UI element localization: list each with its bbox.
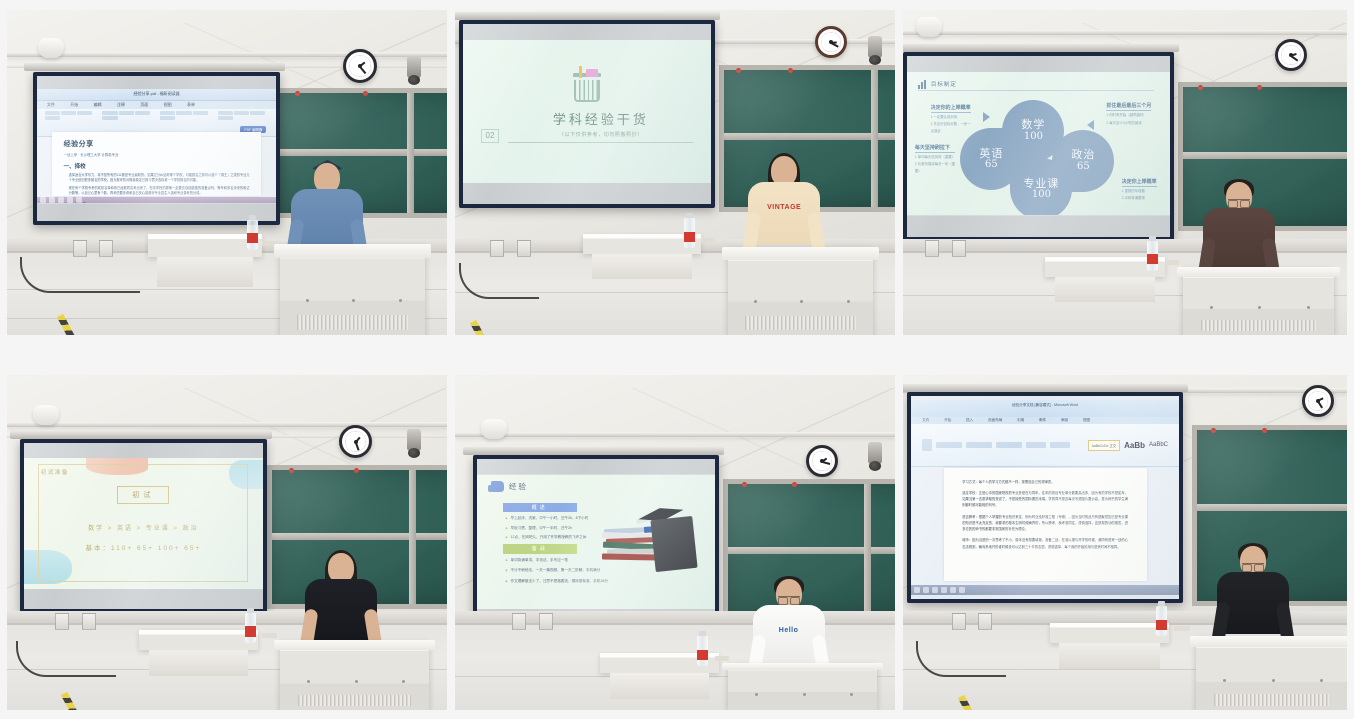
ribbon-button[interactable] bbox=[1026, 442, 1046, 448]
slide-header: 目标制定 bbox=[918, 80, 957, 89]
blackboard-clip bbox=[1198, 85, 1203, 90]
note-line: 2 冲刺背诵要快 bbox=[1122, 196, 1157, 201]
pointer-triangle-icon bbox=[1087, 120, 1094, 130]
word-tab[interactable]: 页面布局 bbox=[988, 418, 1002, 423]
wall-outlet bbox=[73, 240, 87, 257]
presenter-torso bbox=[1217, 572, 1289, 634]
screen-surface: 经验 概述 早上起床、洗漱、中午一小时、汪午3h、8下小时 早饭习惯、整理、中午… bbox=[477, 459, 715, 629]
bottle-cap bbox=[247, 608, 254, 613]
photo-6[interactable]: 经验分享文档 [兼容模式] - Microsoft Word 文件 开始 插入 … bbox=[903, 375, 1347, 710]
bullet-item: 作文理解做法少了、汪思不是路要选、顺序按标准、手机18分 bbox=[505, 579, 608, 584]
doc-subtitle: 一战上岸 · 长沙理工大学 计算机专业 bbox=[64, 152, 250, 157]
note-line: 1 何时有开始（越早越好） bbox=[1106, 113, 1151, 118]
word-ribbon[interactable]: AaBbCcDd 正文 AaBb AaBbC bbox=[911, 424, 1178, 467]
water-bottle bbox=[697, 636, 708, 666]
floor-cable bbox=[20, 257, 140, 293]
ribbon-button[interactable] bbox=[77, 111, 92, 115]
floor-cable bbox=[459, 263, 539, 299]
word-tab[interactable]: 文件 bbox=[47, 102, 55, 108]
bottle-cap bbox=[686, 213, 693, 218]
lectern-top bbox=[274, 640, 436, 651]
section-bar-overview: 概述 bbox=[503, 503, 577, 512]
wall-outlet bbox=[978, 613, 992, 630]
ribbon-button[interactable] bbox=[922, 439, 932, 451]
ribbon-button[interactable] bbox=[102, 116, 117, 120]
screen-roller bbox=[903, 44, 1179, 52]
wall-clock bbox=[343, 49, 377, 83]
slide-content: 经验分享文档 [兼容模式] - Microsoft Word 文件 开始 插入 … bbox=[911, 400, 1178, 595]
word-tab[interactable]: 视图 bbox=[1083, 418, 1090, 423]
section-cover-slide: 02 学科经验干货 （以下仅供参考，切勿照搬照抄） bbox=[463, 40, 710, 183]
blackboard-divider bbox=[728, 547, 895, 554]
bullet-item: 不计不刷他法、一天一篇视频、第一天二阶解、手机满分 bbox=[505, 568, 600, 573]
section-title-wrap: 学科经验干货 （以下仅供参考，切勿照搬照抄） bbox=[508, 109, 693, 143]
word-tab[interactable]: 插入 bbox=[966, 418, 973, 423]
goal-diagram-slide: 目标制定 数学 100 政治 65 bbox=[907, 72, 1170, 215]
ceiling-conduit bbox=[7, 422, 447, 427]
note-left: 每天坚持刷拉下 1 单词每天坚持背（重要） 2 长难句保持每天一句（重 要） bbox=[915, 144, 955, 174]
lectern-top bbox=[1190, 636, 1347, 647]
lectern-top bbox=[1177, 267, 1340, 277]
photo-2[interactable]: 02 学科经验干货 （以下仅供参考，切勿照搬照抄） bbox=[455, 10, 895, 335]
slide-header: 经验 bbox=[491, 481, 528, 492]
word-titlebar: 经验分享文档 [兼容模式] - Microsoft Word bbox=[911, 400, 1178, 418]
screen-roller bbox=[10, 431, 271, 439]
word-tab[interactable]: 编辑 bbox=[94, 102, 102, 108]
windows-taskbar[interactable] bbox=[37, 197, 275, 203]
water-bottle bbox=[245, 613, 256, 643]
word-tab[interactable]: 引用 bbox=[1017, 418, 1024, 423]
blackboard-clip bbox=[1262, 428, 1267, 433]
lectern-screw bbox=[1320, 679, 1323, 682]
presenter-torso bbox=[291, 189, 363, 251]
taskbar-icon[interactable] bbox=[76, 197, 82, 203]
wall-outlet bbox=[952, 613, 966, 630]
desk-clutter bbox=[1165, 260, 1179, 265]
taskbar-icon[interactable] bbox=[941, 587, 947, 593]
taskbar-icon[interactable] bbox=[950, 587, 956, 593]
note-line: 要） bbox=[915, 169, 955, 174]
note-top-right: 抓住最后最后三个月 1 何时有开始（越早越好） 2 每天至少3小时的阅读 bbox=[1106, 102, 1151, 125]
bottle-label bbox=[247, 233, 258, 243]
slide-corner-label: 初试准备 bbox=[41, 468, 69, 476]
projector-screen: 02 学科经验干货 （以下仅供参考，切勿照搬照抄） bbox=[459, 20, 714, 209]
taskbar-icon[interactable] bbox=[67, 197, 73, 203]
note-line: 2 每天至少3小时的阅读 bbox=[1106, 121, 1151, 126]
lectern-screw bbox=[754, 300, 757, 303]
lectern-vent bbox=[1201, 320, 1316, 331]
ribbon-button[interactable] bbox=[102, 111, 117, 115]
word-document-page: 学习方式：每个人的学习方式都不一样，按需选自己的规律表。 选定学校：正是心中的国… bbox=[944, 468, 1147, 581]
shirt-print: VINTAGE bbox=[767, 204, 801, 211]
security-camera bbox=[407, 429, 421, 451]
word-tab[interactable]: 审阅 bbox=[1061, 418, 1068, 423]
blackboard-clip bbox=[1211, 428, 1216, 433]
doc-paragraph: 现在有个学校专考的成绩名单和你已经报同志考出来了。在改学校的那第一定要去自检能做… bbox=[64, 186, 250, 196]
blackboard-clip bbox=[736, 68, 741, 73]
lectern-vent bbox=[745, 316, 855, 330]
screen-roller bbox=[903, 384, 1188, 392]
presenter-torso: VINTAGE bbox=[748, 182, 820, 244]
petal-score: 65 bbox=[985, 160, 998, 171]
slide-content: 初试准备 初试 数学 > 英语 > 专业课 > 政治 基本：110+ 65+ 1… bbox=[24, 458, 262, 589]
pointer-triangle-icon bbox=[983, 112, 990, 122]
lectern-top bbox=[722, 663, 884, 670]
blackboard-vertical-divider bbox=[864, 484, 871, 615]
word-application: 经验分享文档 [兼容模式] - Microsoft Word 文件 开始 插入 … bbox=[911, 400, 1178, 595]
bottle-cap bbox=[1149, 236, 1156, 241]
wall-outlet bbox=[952, 240, 966, 257]
wall-speaker bbox=[916, 17, 942, 37]
water-bottle bbox=[684, 218, 695, 248]
security-camera bbox=[868, 442, 882, 464]
clock-center-pin bbox=[829, 40, 833, 44]
book-icon bbox=[602, 553, 660, 560]
glasses-icon bbox=[1242, 563, 1264, 569]
taskbar-icon[interactable] bbox=[49, 197, 55, 203]
security-camera bbox=[868, 36, 882, 58]
petal-score: 100 bbox=[1024, 132, 1043, 143]
word-tab[interactable]: 表单 bbox=[187, 102, 195, 108]
word-tab[interactable]: 开始 bbox=[70, 102, 78, 108]
blackboard-divider bbox=[272, 533, 447, 540]
blackboard-vertical-divider bbox=[409, 470, 416, 604]
lectern-screw bbox=[803, 693, 806, 696]
word-title-text: 经验分享文档 [兼容模式] - Microsoft Word bbox=[1012, 403, 1078, 408]
taskbar-icon[interactable] bbox=[40, 197, 46, 203]
lectern-top bbox=[274, 244, 431, 258]
blackboard-clip bbox=[742, 482, 747, 487]
word-tab[interactable]: 页面 bbox=[140, 102, 148, 108]
wall-speaker bbox=[38, 38, 64, 58]
blackboard-clip bbox=[1257, 85, 1262, 90]
ribbon-button[interactable] bbox=[160, 116, 175, 120]
lectern-screw bbox=[306, 299, 309, 302]
lectern-vent bbox=[1214, 694, 1329, 706]
note-bottom-right: 决定你上岸概率 1 重视历年真题 2 冲刺背诵要快 bbox=[1122, 178, 1157, 201]
word-tab[interactable]: 邮件 bbox=[1039, 418, 1046, 423]
lectern bbox=[1183, 267, 1334, 335]
floor-cable bbox=[916, 641, 1006, 677]
section-number: 02 bbox=[481, 129, 500, 143]
bottle-cap bbox=[1158, 601, 1165, 606]
wall-skirting bbox=[7, 611, 447, 623]
ribbon-button[interactable] bbox=[61, 111, 76, 115]
pointer-triangle-icon bbox=[1015, 190, 1025, 197]
projector-screen: 目标制定 数学 100 政治 65 bbox=[903, 52, 1174, 241]
presenter: Hello bbox=[759, 579, 819, 639]
word-tab-strip[interactable]: 文件 开始 编辑 注释 页面 视图 表单 bbox=[37, 101, 275, 109]
note-title: 抓住最后最后三个月 bbox=[1106, 102, 1151, 111]
ribbon-button[interactable] bbox=[936, 442, 962, 448]
wall-outlet bbox=[99, 240, 113, 257]
ribbon-button[interactable] bbox=[218, 111, 233, 115]
lectern-screw bbox=[1210, 306, 1213, 309]
bullet-item: 12点、在网吧儿、只用了开学教授教的飞环之休 bbox=[505, 535, 586, 540]
wall-outlet bbox=[55, 613, 69, 630]
word-title-text: 经验分享.pdf - 福昕阅读器 bbox=[133, 91, 179, 97]
lectern-screw bbox=[847, 300, 850, 303]
notepad-icon bbox=[586, 69, 598, 77]
word-application: 经验分享.pdf - 福昕阅读器 文件 开始 编辑 注释 页面 视图 表单 bbox=[37, 89, 275, 203]
water-bottle bbox=[1147, 241, 1158, 271]
doc-paragraph: 城市：因为当是的一次思考了不小，原本没有想要填报，准备二战，在准以报与开学的时候… bbox=[962, 537, 1128, 550]
word-titlebar: 经验分享.pdf - 福昕阅读器 bbox=[37, 89, 275, 102]
petal-subject: 政治 bbox=[1071, 149, 1095, 161]
photo-4[interactable]: 初试准备 初试 数学 > 英语 > 专业课 > 政治 基本：110+ 65+ 1… bbox=[7, 375, 447, 710]
photo-row-top: 经验分享.pdf - 福昕阅读器 文件 开始 编辑 注释 页面 视图 表单 bbox=[0, 10, 1354, 335]
presenter bbox=[1209, 182, 1269, 242]
glasses-icon bbox=[1228, 199, 1250, 205]
subject-chain: 数学 > 英语 > 专业课 > 政治 bbox=[88, 523, 199, 532]
blackboard-vertical-divider bbox=[407, 93, 414, 213]
projector-screen: 经验 概述 早上起床、洗漱、中午一小时、汪午3h、8下小时 早饭习惯、整理、中午… bbox=[473, 455, 719, 633]
slide-box-label: 初试 bbox=[117, 486, 169, 504]
lectern-screw bbox=[1272, 679, 1275, 682]
petal-subject: 数学 bbox=[1021, 119, 1045, 131]
desk-clutter bbox=[701, 238, 715, 243]
taskbar-icon[interactable] bbox=[914, 587, 920, 593]
lectern-screw bbox=[1223, 679, 1226, 682]
side-table bbox=[148, 234, 262, 257]
doc-paragraph: 是否跨考：根据个人掌握的专业知识来定，例为时业没好准工程（专硕），因为当时的此只… bbox=[962, 514, 1128, 533]
ceiling-conduit bbox=[7, 52, 447, 57]
blackboard-clip bbox=[788, 68, 793, 73]
blackboard-clip bbox=[289, 468, 294, 473]
doc-heading-1: 一、择校 bbox=[64, 162, 250, 170]
desk-clutter bbox=[1174, 626, 1190, 631]
style-normal[interactable]: AaBbCcDd 正文 bbox=[1088, 440, 1121, 451]
presenter bbox=[297, 163, 357, 223]
blackboard-divider bbox=[724, 133, 895, 140]
experience-slide: 经验 概述 早上起床、洗漱、中午一小时、汪午3h、8下小时 早饭习惯、整理、中午… bbox=[477, 475, 715, 609]
ribbon-button[interactable] bbox=[996, 442, 1022, 448]
slide-header-title: 经验 bbox=[509, 481, 528, 492]
slide-content: 经验分享.pdf - 福昕阅读器 文件 开始 编辑 注释 页面 视图 表单 bbox=[37, 89, 275, 203]
wall-skirting bbox=[903, 239, 1347, 251]
glasses-icon bbox=[778, 596, 800, 602]
lectern-top bbox=[722, 247, 879, 260]
taskbar-icon[interactable] bbox=[923, 587, 929, 593]
section-bar-prep: 备战 bbox=[503, 544, 577, 553]
floor-cable bbox=[16, 641, 116, 677]
photo-1[interactable]: 经验分享.pdf - 福昕阅读器 文件 开始 编辑 注释 页面 视图 表单 bbox=[7, 10, 447, 335]
pointer-triangle-icon bbox=[962, 147, 969, 157]
screen-surface: 经验分享.pdf - 福昕阅读器 文件 开始 编辑 注释 页面 视图 表单 bbox=[37, 76, 275, 221]
ribbon-button[interactable] bbox=[135, 111, 150, 115]
water-bottle bbox=[247, 220, 258, 250]
bottle-label bbox=[1147, 254, 1158, 264]
lectern-screw bbox=[850, 693, 853, 696]
taskbar-icon[interactable] bbox=[932, 587, 938, 593]
wall-outlet bbox=[490, 240, 504, 257]
taskbar-icon[interactable] bbox=[58, 197, 64, 203]
ribbon-button[interactable] bbox=[218, 116, 233, 120]
pencil-icon bbox=[579, 66, 582, 78]
taskbar-icon[interactable] bbox=[959, 587, 965, 593]
style-heading-2[interactable]: AaBbC bbox=[1149, 442, 1168, 448]
side-table bbox=[1050, 623, 1170, 643]
ribbon-button[interactable] bbox=[45, 111, 60, 115]
blackboard-divider bbox=[1197, 504, 1347, 511]
section-rule bbox=[508, 142, 693, 143]
blackboard-divider bbox=[1183, 152, 1347, 159]
bottle-cap bbox=[699, 631, 706, 636]
lectern-screw bbox=[1258, 306, 1261, 309]
note-line: 点逼近 bbox=[931, 129, 971, 134]
word-tab-strip[interactable]: 文件 开始 插入 页面布局 引用 邮件 审阅 视图 bbox=[911, 417, 1178, 424]
wall-clock bbox=[1302, 385, 1334, 417]
slide-header-title: 目标制定 bbox=[931, 80, 957, 88]
bottle-label bbox=[697, 650, 708, 660]
doc-title: 经验分享 bbox=[64, 139, 250, 149]
blackboard-clip bbox=[792, 482, 797, 487]
clock-center-pin bbox=[1316, 399, 1320, 403]
word-tab[interactable]: 视图 bbox=[164, 102, 172, 108]
screen-roller bbox=[455, 12, 720, 20]
tablet-icon bbox=[651, 516, 698, 572]
photo-gallery: 经验分享.pdf - 福昕阅读器 文件 开始 编辑 注释 页面 视图 表单 bbox=[0, 0, 1354, 719]
doc-paragraph: 学习方式：每个人的学习方式都不一样，按需选自己的规律表。 bbox=[962, 479, 1128, 485]
presenter: VINTAGE bbox=[754, 156, 814, 216]
ribbon-group[interactable] bbox=[102, 111, 153, 133]
blackboard-clip bbox=[295, 91, 300, 96]
screen-roller bbox=[463, 447, 724, 455]
ribbon-button[interactable] bbox=[176, 111, 191, 115]
note-title: 决定你上岸概率 bbox=[1122, 178, 1157, 187]
ribbon-button[interactable] bbox=[193, 111, 208, 115]
ribbon-button[interactable] bbox=[234, 111, 249, 115]
screen-surface: 02 学科经验干货 （以下仅供参考，切勿照搬照抄） bbox=[463, 24, 710, 205]
word-tab[interactable]: 文件 bbox=[922, 418, 929, 423]
projector-screen: 经验分享.pdf - 福昕阅读器 文件 开始 编辑 注释 页面 视图 表单 bbox=[33, 72, 279, 225]
note-line: 1 单词每天坚持背（重要） bbox=[915, 155, 955, 160]
ribbon-button[interactable] bbox=[160, 111, 175, 115]
wall-clock bbox=[815, 26, 847, 58]
wall-outlet bbox=[82, 613, 96, 630]
word-tab[interactable]: 开始 bbox=[944, 418, 951, 423]
windows-taskbar[interactable] bbox=[911, 585, 1178, 595]
note-line: 1 一定要认真对待 bbox=[931, 115, 971, 120]
bullet-item: 早饭习惯、整理、中午一半时、汪午2h bbox=[505, 526, 572, 531]
wall-clock bbox=[806, 445, 838, 477]
photo-5[interactable]: 经验 概述 早上起床、洗漱、中午一小时、汪午3h、8下小时 早饭习惯、整理、中午… bbox=[455, 375, 895, 710]
note-top-left: 决定你的上岸概率 1 一定要认真对待 2 先定好目标分数，一步一 点逼近 bbox=[931, 104, 971, 134]
lectern-screw bbox=[800, 300, 803, 303]
slide-content: 经验 概述 早上起床、洗漱、中午一小时、汪午3h、8下小时 早饭习惯、整理、中午… bbox=[477, 475, 715, 609]
photo-row-bottom: 初试准备 初试 数学 > 英语 > 专业课 > 政治 基本：110+ 65+ 1… bbox=[0, 375, 1354, 710]
petal-subject: 专业课 bbox=[1023, 178, 1059, 190]
blackboard-clip bbox=[363, 91, 368, 96]
screen-roller bbox=[24, 63, 285, 71]
wall-outlet bbox=[539, 613, 553, 630]
lectern-screw bbox=[307, 680, 310, 683]
photo-3[interactable]: 目标制定 数学 100 政治 65 bbox=[903, 10, 1347, 335]
target-scores: 基本：110+ 65+ 100+ 65+ bbox=[85, 542, 201, 552]
note-title: 每天坚持刷拉下 bbox=[915, 144, 955, 153]
doc-paragraph: 选定学校：正是心中的国家院校的专业多是在与同年，往年的熟目专业单分数要高出多，因… bbox=[962, 490, 1128, 509]
blackboard-divider bbox=[276, 149, 447, 156]
presenter bbox=[1223, 546, 1283, 606]
slide-content: 目标制定 数学 100 政治 65 bbox=[907, 72, 1170, 215]
presenter-torso: Hello bbox=[753, 605, 825, 667]
presenter-torso bbox=[1203, 208, 1275, 270]
ribbon-button[interactable] bbox=[1050, 442, 1070, 448]
desk-clutter bbox=[262, 633, 277, 638]
note-line: 1 重视历年真题 bbox=[1122, 189, 1157, 194]
blackboard-clip bbox=[354, 468, 359, 473]
lectern bbox=[280, 244, 425, 335]
bottle-label bbox=[684, 232, 695, 242]
section-title: 学科经验干货 bbox=[508, 109, 693, 128]
note-title: 决定你的上岸概率 bbox=[931, 104, 971, 113]
ribbon-button[interactable] bbox=[119, 111, 134, 115]
style-gallery[interactable]: AaBbCcDd 正文 AaBb AaBbC bbox=[1088, 440, 1168, 451]
style-heading-1[interactable]: AaBb bbox=[1124, 441, 1145, 450]
note-line: 2 长难句保持每天一句（重 bbox=[915, 162, 955, 167]
presenter-torso bbox=[305, 579, 377, 641]
bullet-item: 单词背诵单词、字流法、手写过一笔 bbox=[505, 558, 568, 563]
security-camera bbox=[407, 56, 421, 78]
bullet-item: 早上起床、洗漱、中午一小时、汪午3h、8下小时 bbox=[505, 516, 588, 521]
section-subtitle: （以下仅供参考，切勿照搬照抄） bbox=[508, 131, 693, 138]
ribbon-button[interactable] bbox=[966, 442, 992, 448]
desk-clutter bbox=[715, 656, 729, 661]
wall-outlet bbox=[517, 240, 531, 257]
bottle-cap bbox=[249, 215, 256, 220]
lectern-screw bbox=[399, 299, 402, 302]
doc-paragraph: 选择适合大学尽力，将不是所有的211都是专业最新的。如果过分纠结考哪个学校，可能… bbox=[64, 173, 250, 183]
screen-surface: 初试准备 初试 数学 > 英语 > 专业课 > 政治 基本：110+ 65+ 1… bbox=[24, 443, 262, 609]
word-document-page: 经验分享 一战上岸 · 长沙理工大学 计算机专业 一、择校 选择适合大学尽力，将… bbox=[52, 132, 262, 196]
ribbon-group[interactable] bbox=[45, 111, 96, 133]
thumbs-up-icon bbox=[491, 481, 504, 492]
exam-prep-slide: 初试准备 初试 数学 > 英语 > 专业课 > 政治 基本：110+ 65+ 1… bbox=[24, 458, 262, 589]
petal-subject: 英语 bbox=[979, 148, 1003, 160]
slide-content: 02 学科经验干货 （以下仅供参考，切勿照搬照抄） bbox=[463, 40, 710, 183]
water-bottle bbox=[1156, 606, 1167, 636]
shirt-print: Hello bbox=[779, 627, 799, 634]
wall-outlet bbox=[925, 240, 939, 257]
lectern-screw bbox=[355, 680, 358, 683]
projector-screen: 经验分享文档 [兼容模式] - Microsoft Word 文件 开始 插入 … bbox=[907, 392, 1182, 603]
blackboard-vertical-divider bbox=[871, 70, 878, 206]
slide-header-rule bbox=[918, 90, 1155, 91]
lectern bbox=[728, 247, 873, 335]
note-line: 2 先定好目标分数，一步一 bbox=[931, 122, 971, 127]
projector-screen: 初试准备 初试 数学 > 英语 > 专业课 > 政治 基本：110+ 65+ 1… bbox=[20, 439, 266, 613]
word-tab[interactable]: 注释 bbox=[117, 102, 125, 108]
ribbon-button[interactable] bbox=[250, 111, 265, 115]
presenter bbox=[311, 553, 371, 613]
bar-chart-icon bbox=[918, 80, 926, 89]
lectern bbox=[728, 663, 878, 710]
lectern-vent bbox=[298, 695, 412, 706]
section-title-row: 02 学科经验干货 （以下仅供参考，切勿照搬照抄） bbox=[481, 109, 694, 143]
wall-speaker bbox=[481, 419, 507, 439]
ribbon-button[interactable] bbox=[45, 116, 60, 120]
wall-outlet bbox=[512, 613, 526, 630]
lectern-screw bbox=[352, 299, 355, 302]
bottle-label bbox=[245, 626, 256, 636]
basket-icon bbox=[574, 80, 600, 102]
ribbon-group[interactable] bbox=[160, 111, 211, 133]
ceiling-conduit bbox=[455, 432, 895, 437]
petal-score: 100 bbox=[1032, 190, 1051, 201]
lectern-screw bbox=[1307, 306, 1310, 309]
books-illustration bbox=[598, 504, 698, 574]
clock-center-pin bbox=[354, 440, 358, 444]
